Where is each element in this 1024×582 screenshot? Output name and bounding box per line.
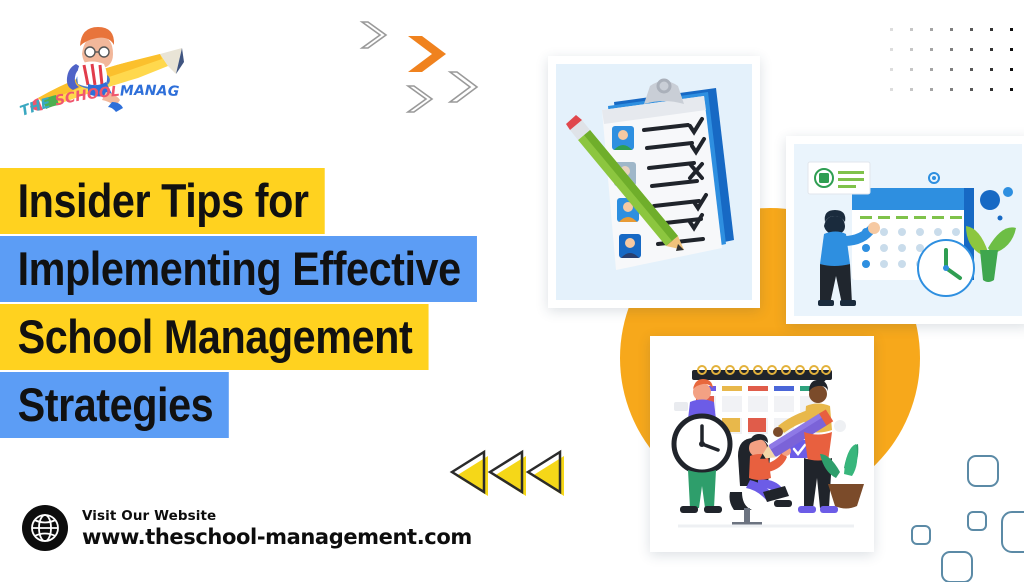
chevron-right-icon	[408, 86, 432, 112]
card-calendar-scheduling	[786, 136, 1024, 324]
chevron-arrows-group	[352, 14, 492, 126]
globe-icon	[22, 505, 68, 551]
rounded-square-outlines	[900, 440, 1024, 582]
chevron-right-icon	[362, 22, 386, 48]
headline-row: School Management	[0, 304, 560, 370]
notification-card	[808, 162, 870, 194]
rounded-square-decor	[968, 512, 986, 530]
clock-icon	[918, 240, 974, 296]
triangle-left-icon	[490, 452, 526, 496]
chevron-right-icon	[450, 72, 477, 102]
rounded-square-decor	[1002, 512, 1024, 552]
blue-dot-decor	[1003, 187, 1013, 197]
site-logo[interactable]: THE SCHOOLMANAGEMENT	[10, 4, 185, 126]
footer-text-block: Visit Our Website www.theschool-manageme…	[82, 507, 472, 550]
headline-line-3: School Management	[0, 304, 428, 370]
headline-line-1: Insider Tips for	[0, 168, 324, 234]
card-team-planning	[650, 336, 874, 552]
headline-block: Insider Tips for Implementing Effective …	[0, 168, 560, 440]
headline-line-2: Implementing Effective	[0, 236, 477, 302]
blue-dot-decor	[998, 216, 1003, 221]
headline-row: Insider Tips for	[0, 168, 560, 234]
headline-row: Strategies	[0, 372, 560, 438]
visit-website-label: Visit Our Website	[82, 507, 472, 525]
rounded-square-decor	[942, 552, 972, 582]
website-url[interactable]: www.theschool-management.com	[82, 525, 472, 550]
triangle-left-icon	[528, 452, 564, 496]
blue-circle-decor	[980, 190, 1000, 210]
target-icon	[932, 176, 936, 180]
card-attendance-checklist	[548, 56, 760, 308]
headline-line-4: Strategies	[0, 372, 229, 438]
rounded-square-decor	[912, 526, 930, 544]
banner-root: THE SCHOOLMANAGEMENT	[0, 0, 1024, 582]
chevron-right-filled-icon	[408, 36, 446, 72]
logo-word-the: THE	[18, 94, 57, 120]
headline-row: Implementing Effective	[0, 236, 560, 302]
triangle-left-icon	[452, 452, 488, 496]
website-footer[interactable]: Visit Our Website www.theschool-manageme…	[22, 505, 472, 551]
rounded-square-decor	[968, 456, 998, 486]
